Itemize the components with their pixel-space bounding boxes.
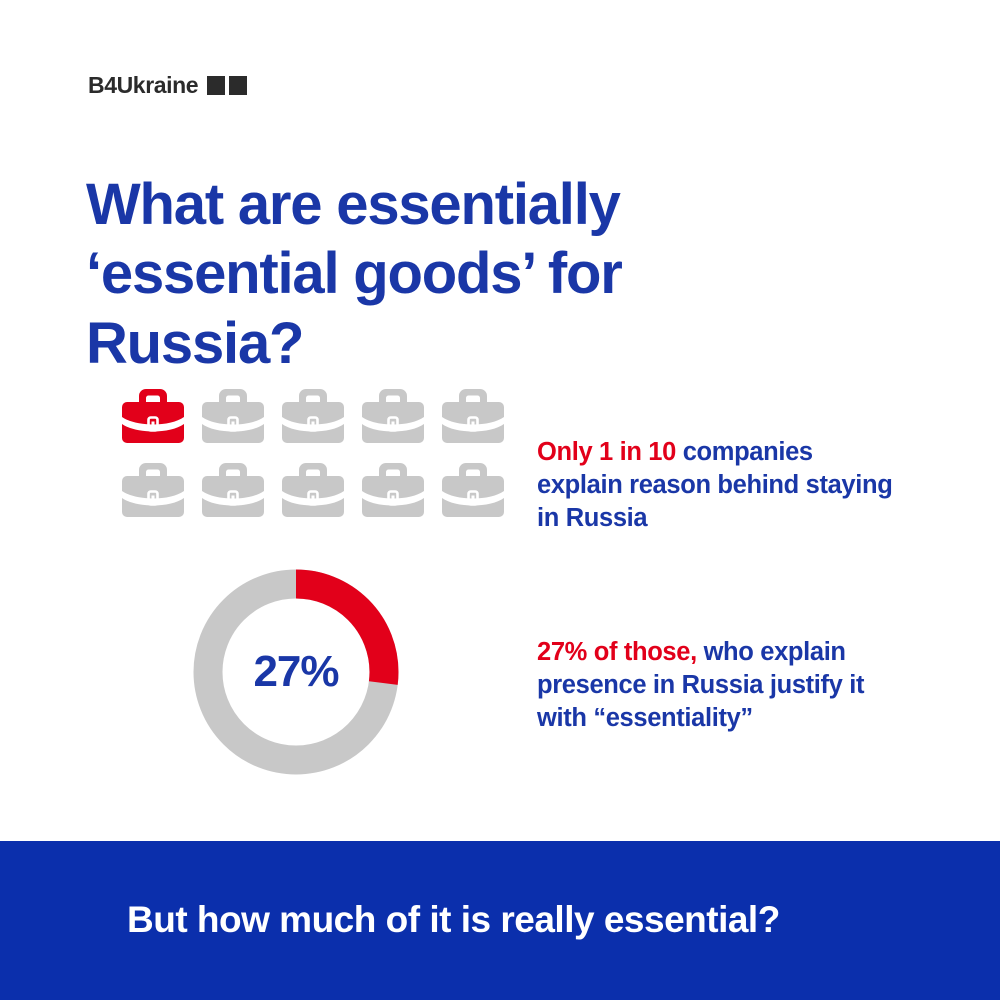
- briefcase-icon: [440, 385, 506, 447]
- brand-mark-icon: [207, 76, 247, 95]
- briefcase-icon-highlighted: [120, 385, 186, 447]
- briefcase-row-2: [120, 459, 510, 521]
- page-title: What are essentially ‘essential goods’ f…: [86, 170, 806, 379]
- briefcase-icon: [200, 385, 266, 447]
- briefcase-icon: [120, 459, 186, 521]
- briefcase-icon: [200, 459, 266, 521]
- infographic-page: B4Ukraine What are essentially ‘essentia…: [0, 0, 1000, 1000]
- banner-question: But how much of it is really essential?: [127, 900, 780, 941]
- brand-name: B4Ukraine: [88, 74, 198, 97]
- briefcase-icon: [280, 459, 346, 521]
- brand-mark-square-2: [229, 76, 247, 95]
- stat-companies-caption: Only 1 in 10 companies explain reason be…: [537, 436, 897, 535]
- brand-mark-square-1: [207, 76, 225, 95]
- briefcase-row-1: [120, 385, 510, 447]
- stat-essentiality-highlight: 27% of those,: [537, 638, 697, 666]
- briefcase-icon: [280, 385, 346, 447]
- bottom-banner: But how much of it is really essential?: [0, 841, 1000, 1000]
- donut-center-label: 27%: [193, 569, 399, 775]
- stat-essentiality-caption: 27% of those, who explain presence in Ru…: [537, 636, 877, 735]
- brand-logo: B4Ukraine: [88, 74, 247, 97]
- donut-chart: 27%: [193, 569, 399, 775]
- stat-companies-highlight: Only 1 in 10: [537, 438, 676, 466]
- briefcase-icon: [360, 459, 426, 521]
- briefcase-icon: [360, 385, 426, 447]
- briefcase-pictogram: [120, 385, 510, 533]
- briefcase-icon: [440, 459, 506, 521]
